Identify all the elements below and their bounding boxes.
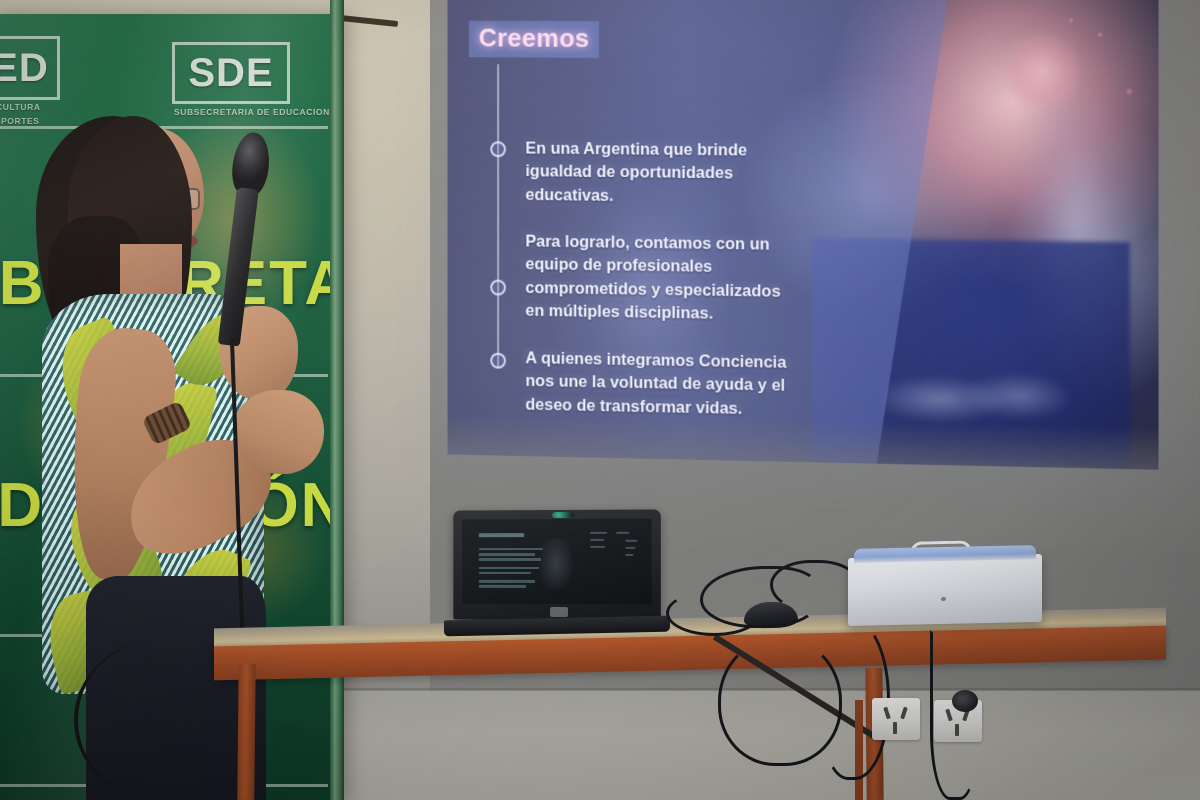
- slide-bullet-marker-3: [490, 353, 506, 369]
- laptop-slide-title-block: [479, 533, 524, 537]
- photo-scene: Creemos En una Argentina que brinde igua…: [0, 0, 1200, 800]
- laptop-slide-text-line: [479, 580, 535, 583]
- laptop-slide-text-line: [479, 572, 532, 575]
- laptop-computer[interactable]: [453, 509, 661, 620]
- microphone-head: [229, 131, 272, 197]
- presenter-open-hand: [234, 390, 324, 474]
- laptop-panel-item: [590, 546, 605, 548]
- laptop-slide-text-line: [479, 585, 526, 588]
- white-projector-unit[interactable]: [848, 554, 1042, 626]
- laptop-slide-text-line: [479, 567, 539, 570]
- table-leg-left: [237, 664, 255, 800]
- slide-timeline-axis: [497, 64, 499, 368]
- outlet-slot: [900, 707, 908, 720]
- laptop-side-panel: [590, 531, 640, 582]
- laptop-panel-item: [590, 539, 604, 541]
- projector-indicator-icon: [941, 597, 946, 601]
- projected-slide: Creemos En una Argentina que brinde igua…: [448, 0, 1159, 470]
- cable-loop: [666, 590, 762, 636]
- laptop-brand-logo: [550, 607, 568, 617]
- slide-bullet-marker-2: [490, 280, 506, 296]
- laptop-panel-item: [625, 554, 633, 556]
- banner-support-pole: [330, 0, 344, 800]
- slide-bullet-text-3: A quienes integramos Conciencia nos une …: [525, 347, 862, 423]
- outlet-slot: [893, 722, 897, 734]
- laptop-panel-item: [625, 547, 635, 549]
- slide-bullet-text-2: Para lograrlo, contamos con un equipo de…: [525, 231, 862, 329]
- power-plug[interactable]: [952, 690, 978, 712]
- laptop-panel-item: [616, 532, 629, 534]
- wall-outlet-left[interactable]: [872, 698, 920, 740]
- laptop-slide-text-line: [479, 553, 535, 556]
- slide-title-highlight: Creemos: [469, 21, 599, 58]
- slide-bullet-marker-1: [490, 141, 506, 157]
- laptop-panel-item: [590, 532, 607, 534]
- slide-title: Creemos: [479, 23, 590, 54]
- laptop-slide-figure: [537, 538, 575, 589]
- webcam-icon: [552, 512, 574, 518]
- laptop-screen: [462, 519, 652, 605]
- outlet-slot: [945, 709, 953, 722]
- slide-bullet-text-1: En una Argentina que brinde igualdad de …: [525, 138, 862, 211]
- projector-top-lid: [854, 545, 1036, 563]
- laptop-slide-text-line: [479, 558, 541, 561]
- laptop-panel-item: [625, 540, 637, 542]
- laptop-slide-text-line: [479, 548, 543, 551]
- outlet-slot: [955, 724, 959, 736]
- outlet-slot: [883, 707, 891, 720]
